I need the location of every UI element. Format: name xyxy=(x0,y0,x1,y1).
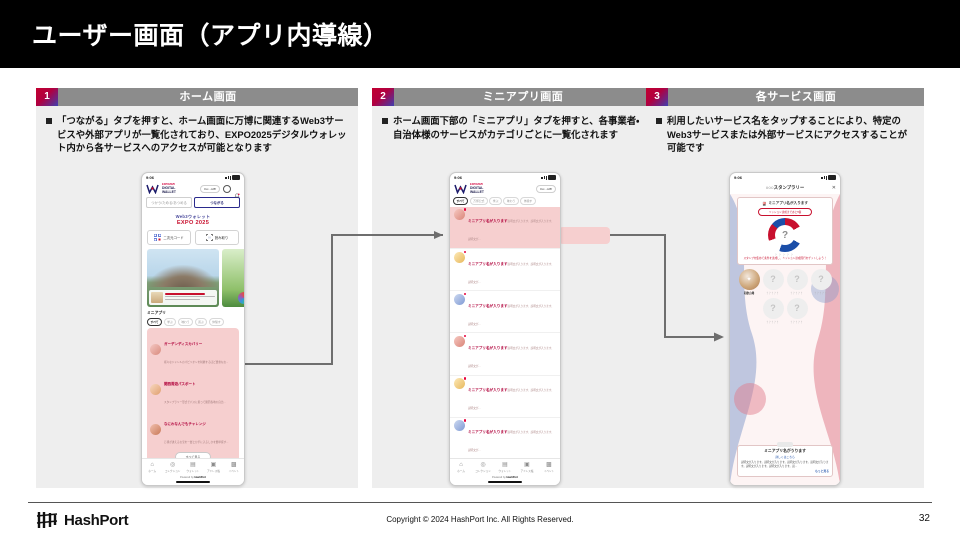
stamp-grid: ✦和歌山場?？？？？？?？？？？？?？？？？？?？？？？？?？？？？？ xyxy=(737,269,833,324)
list-item[interactable]: ミニアプリ名が入ります説明文が入ります、説明文が入ります、説明文が… xyxy=(450,333,560,375)
panel-3-title: 各サービス画面 xyxy=(668,88,924,106)
notification-dot-icon xyxy=(464,335,467,338)
miniapp-desc: 説明文が入ります、説明文が入ります、説明文が… xyxy=(468,347,554,368)
service-info-sheet: ミニアプリ名がうります 詳しくはこちら 説明文が入ります。説明文が入ります。説明… xyxy=(737,445,833,477)
nav-addressbook[interactable]: ▣アドレス帳 xyxy=(516,462,538,473)
event-icon: ▩ xyxy=(538,462,560,469)
stamp-circle: ? xyxy=(787,269,808,290)
miniapp-name: ガーデンディスカバリー xyxy=(164,342,202,346)
miniapp-name: ミニアプリ名が入ります xyxy=(468,388,508,392)
featured-stamp: ? xyxy=(768,218,802,252)
panel-2-bullet-text: ホーム画面下部の「ミニアプリ」タブを押すと、各事業者・自治体様のサービスがカテゴ… xyxy=(393,114,642,141)
chip-official[interactable]: 万博公式 xyxy=(470,197,488,205)
nav-wallet[interactable]: ▤ウォレット xyxy=(183,462,203,473)
tab-use-save-collect[interactable]: つかう/ためる/あつめる xyxy=(146,197,192,208)
stamp-label: ？？？？？ xyxy=(763,320,784,324)
slide-root: ユーザー画面（アプリ内導線） 1 ホーム画面 「つながる」タブを押すと、ホーム画… xyxy=(0,0,960,540)
panel-3-bullet-text: 利用したいサービス名をタップすることにより、特定のWeb3サービスまたは外部サー… xyxy=(667,114,914,155)
panel-1-bullet-text: 「つながる」タブを押すと、ホーム画面に万博に関連するWeb3サービスや外部アプリ… xyxy=(57,114,348,155)
miniapp-name: なにわなんでもチャレンジ xyxy=(164,422,206,426)
nav-wallet[interactable]: ▤ウォレット xyxy=(494,462,516,473)
panel-1-body: 「つながる」タブを押すと、ホーム画面に万博に関連するWeb3サービスや外部アプリ… xyxy=(36,106,358,155)
panel-2-bullet: ホーム画面下部の「ミニアプリ」タブを押すと、各事業者・自治体様のサービスがカテゴ… xyxy=(382,114,642,141)
scan-label: 読み取り xyxy=(215,235,229,240)
list-item[interactable]: ミニアプリ名が入ります説明文が入ります、説明文が入ります、説明文が… xyxy=(450,207,560,249)
wallet-logo-text: EXPO2025 DIGITAL WALLET xyxy=(162,184,176,195)
digital-wallet-logo-icon xyxy=(454,184,467,194)
panel-2-header: 2 ミニアプリ画面 xyxy=(372,88,652,106)
panel-3-number: 3 xyxy=(646,88,668,106)
list-item[interactable]: ガーデンディスカバリー 様々なジャンルのパビリオンを制覇するほど貴重なお... xyxy=(149,330,237,370)
nav-event-label: イベント xyxy=(538,469,560,473)
qr-code-button[interactable]: 二次元コード xyxy=(147,230,191,245)
miniapp-icon xyxy=(454,252,465,263)
qr-code-label: 二次元コード xyxy=(163,235,183,240)
mountain-graphic xyxy=(147,265,219,287)
miniapp-name: ミニアプリ名が入ります xyxy=(468,346,508,350)
miniapp-highlight-group: ガーデンディスカバリー 様々なジャンルのパビリオンを制覇するほど貴重なお... … xyxy=(147,328,239,464)
stamp-circle: ? xyxy=(787,298,808,319)
phone-mockup-service: 9:06 ○○○スタンプラリー ✕ 🎴 ミニアプリ名が入ります xyxy=(729,172,841,486)
status-icons xyxy=(541,175,556,180)
bottom-nav: ⌂ホーム ◎コレクション ▤ウォレット ▣アドレス帳 ▩イベント Powered… xyxy=(142,458,244,485)
signal-icon xyxy=(225,177,226,179)
stamp-rally-card: 🎴 ミニアプリ名が入ります ミッション達成まであと5個 ? ？？？？？ スタンプ… xyxy=(737,197,833,265)
quick-action-row: 二次元コード 読み取り xyxy=(142,227,244,249)
home-icon: ⌂ xyxy=(450,462,472,469)
addressbook-icon: ▣ xyxy=(516,462,538,469)
battery-icon xyxy=(232,175,240,180)
bottom-nav: ⌂ホーム ◎コレクション ▤ウォレット ▣アドレス帳 ▩イベント Powered… xyxy=(450,458,560,485)
footer-copyright: Copyright © 2024 HashPort Inc. All Right… xyxy=(0,515,960,524)
bullet-square-icon xyxy=(656,118,662,124)
nav-collection[interactable]: ◎コレクション xyxy=(162,462,182,473)
panel-1-number: 1 xyxy=(36,88,58,106)
chip-experience[interactable]: 体験す xyxy=(209,318,224,326)
chip-play[interactable]: 遊ぶ xyxy=(195,318,208,326)
miniapp-icon xyxy=(454,378,465,389)
list-item[interactable]: なにわなんでもチャレンジ 万博が誘えるお宝を一層とか手に入るしかを簡単探す... xyxy=(149,410,237,450)
bell-icon[interactable] xyxy=(234,186,240,192)
drag-handle[interactable] xyxy=(777,442,793,447)
miniapp-category-chips[interactable]: すべて 学ぶ 味わう 遊ぶ 体験す xyxy=(147,318,239,326)
home-indicator xyxy=(488,481,522,483)
list-item[interactable]: ミニアプリ名が入ります説明文が入ります、説明文が入ります、説明文が… xyxy=(450,291,560,333)
detail-link[interactable]: 詳しくはこちら xyxy=(741,455,829,459)
title-bar: ユーザー画面（アプリ内導線） xyxy=(0,0,960,68)
banner-card[interactable] xyxy=(147,249,219,307)
list-item[interactable]: ミニアプリ名が入ります説明文が入ります、説明文が入ります、説明文が… xyxy=(450,249,560,291)
stamp-slot[interactable]: ✦和歌山場 xyxy=(739,269,760,295)
nav-wallet-label: ウォレット xyxy=(183,469,203,473)
stamp-label: ？？？？？ xyxy=(763,291,784,295)
miniapp-section-title: ミニアプリ xyxy=(147,311,239,316)
service-body: 🎴 ミニアプリ名が入ります ミッション達成まであと5個 ? ？？？？？ スタンプ… xyxy=(730,194,840,485)
hero-banner-carousel[interactable] xyxy=(142,249,244,307)
notification-dot-icon xyxy=(464,251,467,254)
status-time: 9:06 xyxy=(454,175,462,180)
miniapp-desc: 様々なジャンルのパビリオンを制覇するほど貴重なお... xyxy=(164,361,228,364)
stamp-slot[interactable]: ?？？？？？ xyxy=(763,269,784,295)
list-item[interactable]: ミニアプリ名が入ります説明文が入ります、説明文が入ります、説明文が… xyxy=(450,418,560,460)
miniapp-list: ミニアプリ名が入ります説明文が入ります、説明文が入ります、説明文が…ミニアプリ名… xyxy=(450,207,560,486)
chip-experience[interactable]: 体験す xyxy=(520,197,535,205)
account-pill[interactable]: 0xc...c28f xyxy=(536,185,556,193)
signal-icon xyxy=(228,176,229,179)
miniapp-desc: 万博が誘えるお宝を一層とか手に入るしかを簡単探す... xyxy=(164,441,228,444)
page-number: 32 xyxy=(919,513,930,524)
nav-home-label: ホーム xyxy=(142,469,162,473)
powered-by-brand: HashPort xyxy=(194,476,206,479)
miniapp-icon xyxy=(454,294,465,305)
globe-icon xyxy=(238,292,245,304)
nav-addressbook-label: アドレス帳 xyxy=(516,469,538,473)
stamp-circle: ✦ xyxy=(739,269,760,290)
miniapp-section: ミニアプリ すべて 学ぶ 味わう 遊ぶ 体験す ガーデンディスカバリー 様々なジ… xyxy=(142,307,244,464)
banner-text-lines xyxy=(165,293,215,301)
nav-collection[interactable]: ◎コレクション xyxy=(472,462,494,473)
card-description: スタンプを集めて条件を達成し、ミッション達成国行をゲットしよう！ xyxy=(741,257,829,261)
stamp-circle: ? xyxy=(763,298,784,319)
list-item[interactable]: 関西周遊パスポート スタンプラリー形式でパスに乗って関西各地の自治... xyxy=(149,370,237,410)
collection-icon: ◎ xyxy=(472,462,494,469)
miniapp-desc: 説明文が入ります、説明文が入ります、説明文が… xyxy=(468,389,554,410)
info-title: ミニアプリ名がうります xyxy=(741,449,829,454)
stamp-placeholder: ? xyxy=(775,225,795,245)
status-bar: 9:06 xyxy=(450,173,560,182)
panel-3-body: 利用したいサービス名をタップすることにより、特定のWeb3サービスまたは外部サー… xyxy=(646,106,924,155)
nav-home-label: ホーム xyxy=(450,469,472,473)
notification-dot-icon xyxy=(464,419,467,422)
status-time: 9:06 xyxy=(146,175,154,180)
stamp-label: ？？？？？ xyxy=(787,320,808,324)
nav-wallet-label: ウォレット xyxy=(494,469,516,473)
panel-2-number: 2 xyxy=(372,88,394,106)
panel-1-header: 1 ホーム画面 xyxy=(36,88,358,106)
logo-line-2: WALLET xyxy=(470,190,484,194)
collection-icon: ◎ xyxy=(162,462,182,469)
powered-by-brand: HashPort xyxy=(506,476,518,479)
miniapp-name: ミニアプリ名が入ります xyxy=(468,262,508,266)
stamp-slot[interactable]: ?？？？？？ xyxy=(787,298,808,324)
wallet-header-actions: 0xc...c28f xyxy=(200,185,240,193)
status-bar: 9:06 xyxy=(730,173,840,182)
page-title: ユーザー画面（アプリ内導線） xyxy=(32,16,389,52)
mission-badge: ミッション達成まであと5個 xyxy=(758,208,812,216)
chip-taste[interactable]: 味わう xyxy=(178,318,193,326)
hero-line-2: EXPO 2025 xyxy=(142,220,244,226)
miniapp-name: 関西周遊パスポート xyxy=(164,382,196,386)
wallet-icon: ▤ xyxy=(183,462,203,469)
gear-icon[interactable] xyxy=(223,185,231,193)
scan-icon xyxy=(206,234,213,241)
event-icon: ▩ xyxy=(224,462,244,469)
digital-wallet-logo-icon xyxy=(146,184,159,194)
home-tab-row: つかう/ためる/あつめる つながる xyxy=(142,196,244,211)
wifi-icon xyxy=(230,176,231,180)
powered-by: Powered by HashPort xyxy=(450,476,560,479)
close-icon[interactable]: ✕ xyxy=(832,185,836,191)
status-time: 9:06 xyxy=(734,175,742,180)
nav-home[interactable]: ⌂ホーム xyxy=(450,462,472,473)
nav-collection-label: コレクション xyxy=(472,469,494,473)
card-header: 🎴 ミニアプリ名が入ります xyxy=(741,201,829,206)
miniapp-icon xyxy=(454,209,465,220)
panel-3-bullet: 利用したいサービス名をタップすることにより、特定のWeb3サービスまたは外部サー… xyxy=(656,114,914,155)
stamp-slot[interactable]: ?？？？？？ xyxy=(811,269,832,295)
wallet-header: EXPO2025 DIGITAL WALLET 0xc...c28f xyxy=(142,182,244,196)
notification-dot-icon xyxy=(464,293,467,296)
phone-mockup-home: 9:06 EXPO2025 DIGITAL WALLET 0xc xyxy=(141,172,245,486)
battery-icon xyxy=(828,175,836,180)
stamp-circle: ? xyxy=(763,269,784,290)
panel-1-bullet: 「つながる」タブを押すと、ホーム画面に万博に関連するWeb3サービスや外部アプリ… xyxy=(46,114,348,155)
nav-event[interactable]: ▩イベント xyxy=(224,462,244,473)
nav-addressbook-label: アドレス帳 xyxy=(203,469,223,473)
miniapp-icon xyxy=(454,336,465,347)
wallet-logo-text: EXPO2025 DIGITAL WALLET xyxy=(470,184,484,195)
miniapp-name: ミニアプリ名が入ります xyxy=(468,430,508,434)
home-icon: ⌂ xyxy=(142,462,162,469)
miniapp-desc: 説明文が入ります、説明文が入ります、説明文が… xyxy=(468,220,554,241)
powered-by-label: Powered by xyxy=(492,476,506,479)
panel-2-body: ホーム画面下部の「ミニアプリ」タブを押すと、各事業者・自治体様のサービスがカテゴ… xyxy=(372,106,652,141)
card-title: ミニアプリ名が入ります xyxy=(768,201,808,206)
category-chip-row[interactable]: すべて 万博公式 学ぶ 味わう 体験す xyxy=(450,196,560,207)
footer-divider xyxy=(28,502,932,503)
scan-button[interactable]: 読み取り xyxy=(195,230,239,245)
logo-line-2: WALLET xyxy=(162,190,176,194)
hero-title: Web3ウォレット EXPO 2025 xyxy=(142,211,244,227)
battery-icon xyxy=(548,175,556,180)
addressbook-icon: ▣ xyxy=(203,462,223,469)
banner-thumbnail xyxy=(151,292,163,303)
nav-event-label: イベント xyxy=(224,469,244,473)
stamp-label: 和歌山場 xyxy=(739,291,760,295)
nav-collection-label: コレクション xyxy=(162,469,182,473)
miniapp-icon xyxy=(454,420,465,431)
info-description: 説明文が入ります。説明文が入ります。説明文が入ります。説明文が入ります。説明文が… xyxy=(741,461,829,469)
banner-caption xyxy=(149,290,217,305)
miniapp-desc: スタンプラリー形式でパスに乗って関西各地の自治... xyxy=(164,401,226,404)
nav-home[interactable]: ⌂ホーム xyxy=(142,462,162,473)
chip-all[interactable]: すべて xyxy=(453,197,468,205)
chip-taste[interactable]: 味わう xyxy=(503,197,518,205)
miniapp-name: ミニアプリ名が入ります xyxy=(468,304,508,308)
chip-learn[interactable]: 学ぶ xyxy=(489,197,502,205)
notification-dot-icon xyxy=(464,377,467,380)
panel-2-title: ミニアプリ画面 xyxy=(394,88,652,106)
status-icons xyxy=(225,175,240,180)
highlight-strip-right xyxy=(559,227,610,244)
stamp-label: ？？？？？ xyxy=(811,291,832,295)
powered-by: Powered by HashPort xyxy=(142,476,244,479)
miniapp-name: ミニアプリ名が入ります xyxy=(468,219,508,223)
stamp-circle: ? xyxy=(811,269,832,290)
bullet-square-icon xyxy=(382,118,388,124)
panel-1-title: ホーム画面 xyxy=(58,88,358,106)
wallet-icon: ▤ xyxy=(494,462,516,469)
nav-addressbook[interactable]: ▣アドレス帳 xyxy=(203,462,223,473)
service-title: ○○○スタンプラリー xyxy=(766,185,805,191)
bullet-square-icon xyxy=(46,118,52,124)
miniapp-desc: 説明文が入ります、説明文が入ります、説明文が… xyxy=(468,431,554,452)
more-link[interactable]: もっと見る xyxy=(741,469,829,473)
notification-dot-icon xyxy=(464,208,467,211)
status-icons xyxy=(821,175,836,180)
wallet-header: EXPO2025 DIGITAL WALLET 0xc...c28f xyxy=(450,182,560,196)
stamp-icon: 🎴 xyxy=(762,202,766,206)
stamp-label: ？？？？？ xyxy=(787,291,808,295)
powered-by-label: Powered by xyxy=(180,476,194,479)
home-indicator xyxy=(176,481,210,483)
nav-event[interactable]: ▩イベント xyxy=(538,462,560,473)
chip-all[interactable]: すべて xyxy=(147,318,162,326)
stamp-slot[interactable]: ?？？？？？ xyxy=(787,269,808,295)
chip-learn[interactable]: 学ぶ xyxy=(164,318,177,326)
stamp-slot[interactable]: ?？？？？？ xyxy=(763,298,784,324)
status-bar: 9:06 xyxy=(142,173,244,182)
banner-card[interactable] xyxy=(222,249,245,307)
miniapp-icon xyxy=(150,344,161,355)
account-pill[interactable]: 0xc...c28f xyxy=(200,185,220,193)
miniapp-icon xyxy=(150,384,161,395)
phone-mockup-miniapp-list: 9:06 EXPO2025 DIGITAL WALLET 0xc...c28f xyxy=(449,172,561,486)
qr-icon xyxy=(154,234,161,241)
miniapp-icon xyxy=(150,424,161,435)
list-item[interactable]: ミニアプリ名が入ります説明文が入ります、説明文が入ります、説明文が… xyxy=(450,376,560,418)
panel-3-header: 3 各サービス画面 xyxy=(646,88,924,106)
